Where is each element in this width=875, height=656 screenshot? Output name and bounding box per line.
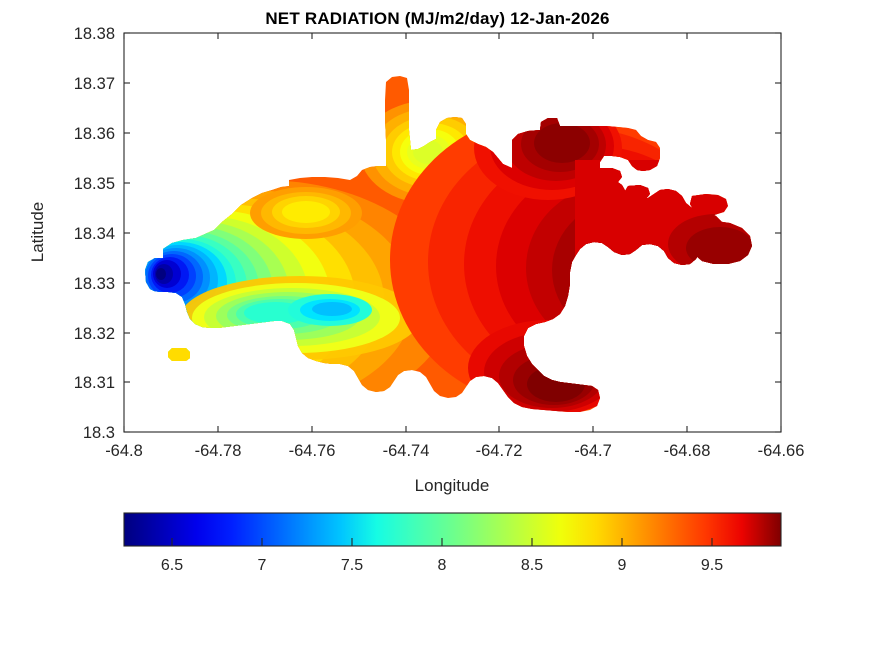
contour-field [72, 33, 781, 432]
colorbar-tick-labels: 6.5 7 7.5 8 8.5 9 9.5 [161, 557, 723, 574]
x-tick-label: -64.7 [574, 442, 612, 460]
x-tick-labels: -64.8 -64.78 -64.76 -64.74 -64.72 -64.7 … [105, 442, 804, 460]
x-tick-label: -64.8 [105, 442, 143, 460]
colorbar-tick-label: 8 [438, 557, 447, 574]
contour-bands-southeast-hot [468, 320, 628, 416]
x-tick-label: -64.72 [476, 442, 523, 460]
y-tick-label: 18.36 [74, 125, 115, 143]
x-tick-label: -64.74 [383, 442, 430, 460]
contour-bands-south-tongue [180, 276, 420, 360]
y-tick-label: 18.34 [74, 225, 115, 243]
contour-bands-east-fragments [575, 160, 765, 275]
contour-bands-isolated-speck [166, 346, 192, 363]
y-tick-label: 18.31 [74, 374, 115, 392]
colorbar-gradient[interactable] [124, 513, 781, 546]
x-tick-label: -64.78 [195, 442, 242, 460]
colorbar-tick-label: 8.5 [521, 557, 543, 574]
colorbar[interactable]: 6.5 7 7.5 8 8.5 9 9.5 [124, 513, 781, 574]
contour-bands-nw-yellow [250, 187, 362, 239]
chart-canvas: 18.38 18.37 18.36 18.35 18.34 18.33 18.3… [0, 0, 875, 656]
y-tick-label: 18.33 [74, 275, 115, 293]
y-tick-label: 18.35 [74, 175, 115, 193]
colorbar-tick-label: 9 [618, 557, 627, 574]
y-tick-label: 18.32 [74, 325, 115, 343]
y-axis-label: Latitude [28, 202, 47, 263]
x-tick-label: -64.76 [289, 442, 336, 460]
colorbar-tick-label: 7.5 [341, 557, 363, 574]
colorbar-tick-label: 7 [258, 557, 267, 574]
y-tick-labels: 18.38 18.37 18.36 18.35 18.34 18.33 18.3… [74, 25, 115, 442]
colorbar-tick-label: 6.5 [161, 557, 183, 574]
y-tick-label: 18.3 [83, 424, 115, 442]
y-tick-label: 18.38 [74, 25, 115, 43]
y-tick-label: 18.37 [74, 75, 115, 93]
figure-container: NET RADIATION (MJ/m2/day) 12-Jan-2026 [0, 0, 875, 656]
x-tick-label: -64.66 [758, 442, 805, 460]
x-axis-label: Longitude [415, 476, 490, 495]
colorbar-tick-label: 9.5 [701, 557, 723, 574]
x-tick-label: -64.68 [664, 442, 711, 460]
